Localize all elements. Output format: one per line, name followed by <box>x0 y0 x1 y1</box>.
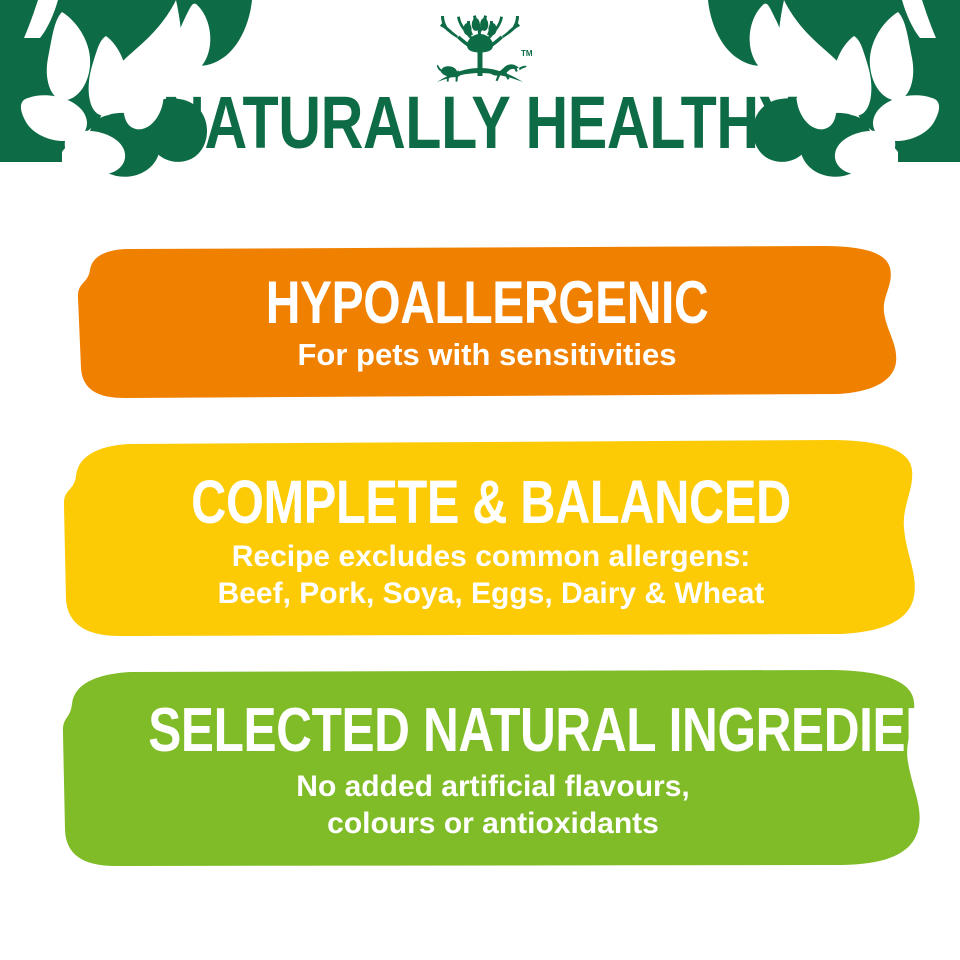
banner-subtitle-line: Beef, Pork, Soya, Eggs, Dairy & Wheat <box>62 575 920 612</box>
banner-subtitle: No added artificial flavours, colours or… <box>62 768 924 842</box>
feature-banner-hypoallergenic: HYPOALLERGENIC For pets with sensitiviti… <box>62 246 912 398</box>
svg-text:TM: TM <box>521 49 533 58</box>
banner-subtitle: Recipe excludes common allergens: Beef, … <box>62 538 920 612</box>
banner-subtitle-line: colours or antioxidants <box>62 805 924 842</box>
banner-text-group: HYPOALLERGENIC For pets with sensitiviti… <box>62 270 912 374</box>
banner-headline: COMPLETE & BALANCED <box>148 470 834 534</box>
banner-text-group: SELECTED NATURAL INGREDIENTS No added ar… <box>62 694 924 842</box>
banner-subtitle-line: For pets with sensitivities <box>62 336 912 374</box>
tree-with-paw-cat-and-dog-logo-icon: TM <box>417 12 543 90</box>
header-band: TM NATURALLY HEALTHY <box>0 0 960 185</box>
banner-text-group: COMPLETE & BALANCED Recipe excludes comm… <box>62 464 920 612</box>
banner-headline: HYPOALLERGENIC <box>147 272 827 334</box>
banner-headline: SELECTED NATURAL INGREDIENTS <box>148 698 838 764</box>
banner-subtitle: For pets with sensitivities <box>62 336 912 374</box>
banner-subtitle-line: Recipe excludes common allergens: <box>62 538 920 575</box>
banner-subtitle-line: No added artificial flavours, <box>62 768 924 805</box>
product-feature-infographic: TM NATURALLY HEALTHY HYPOALLERGENIC For … <box>0 0 960 960</box>
page-title: NATURALLY HEALTHY <box>96 86 864 160</box>
feature-banner-complete-balanced: COMPLETE & BALANCED Recipe excludes comm… <box>62 440 920 636</box>
feature-banner-selected-natural-ingredients: SELECTED NATURAL INGREDIENTS No added ar… <box>62 670 924 866</box>
